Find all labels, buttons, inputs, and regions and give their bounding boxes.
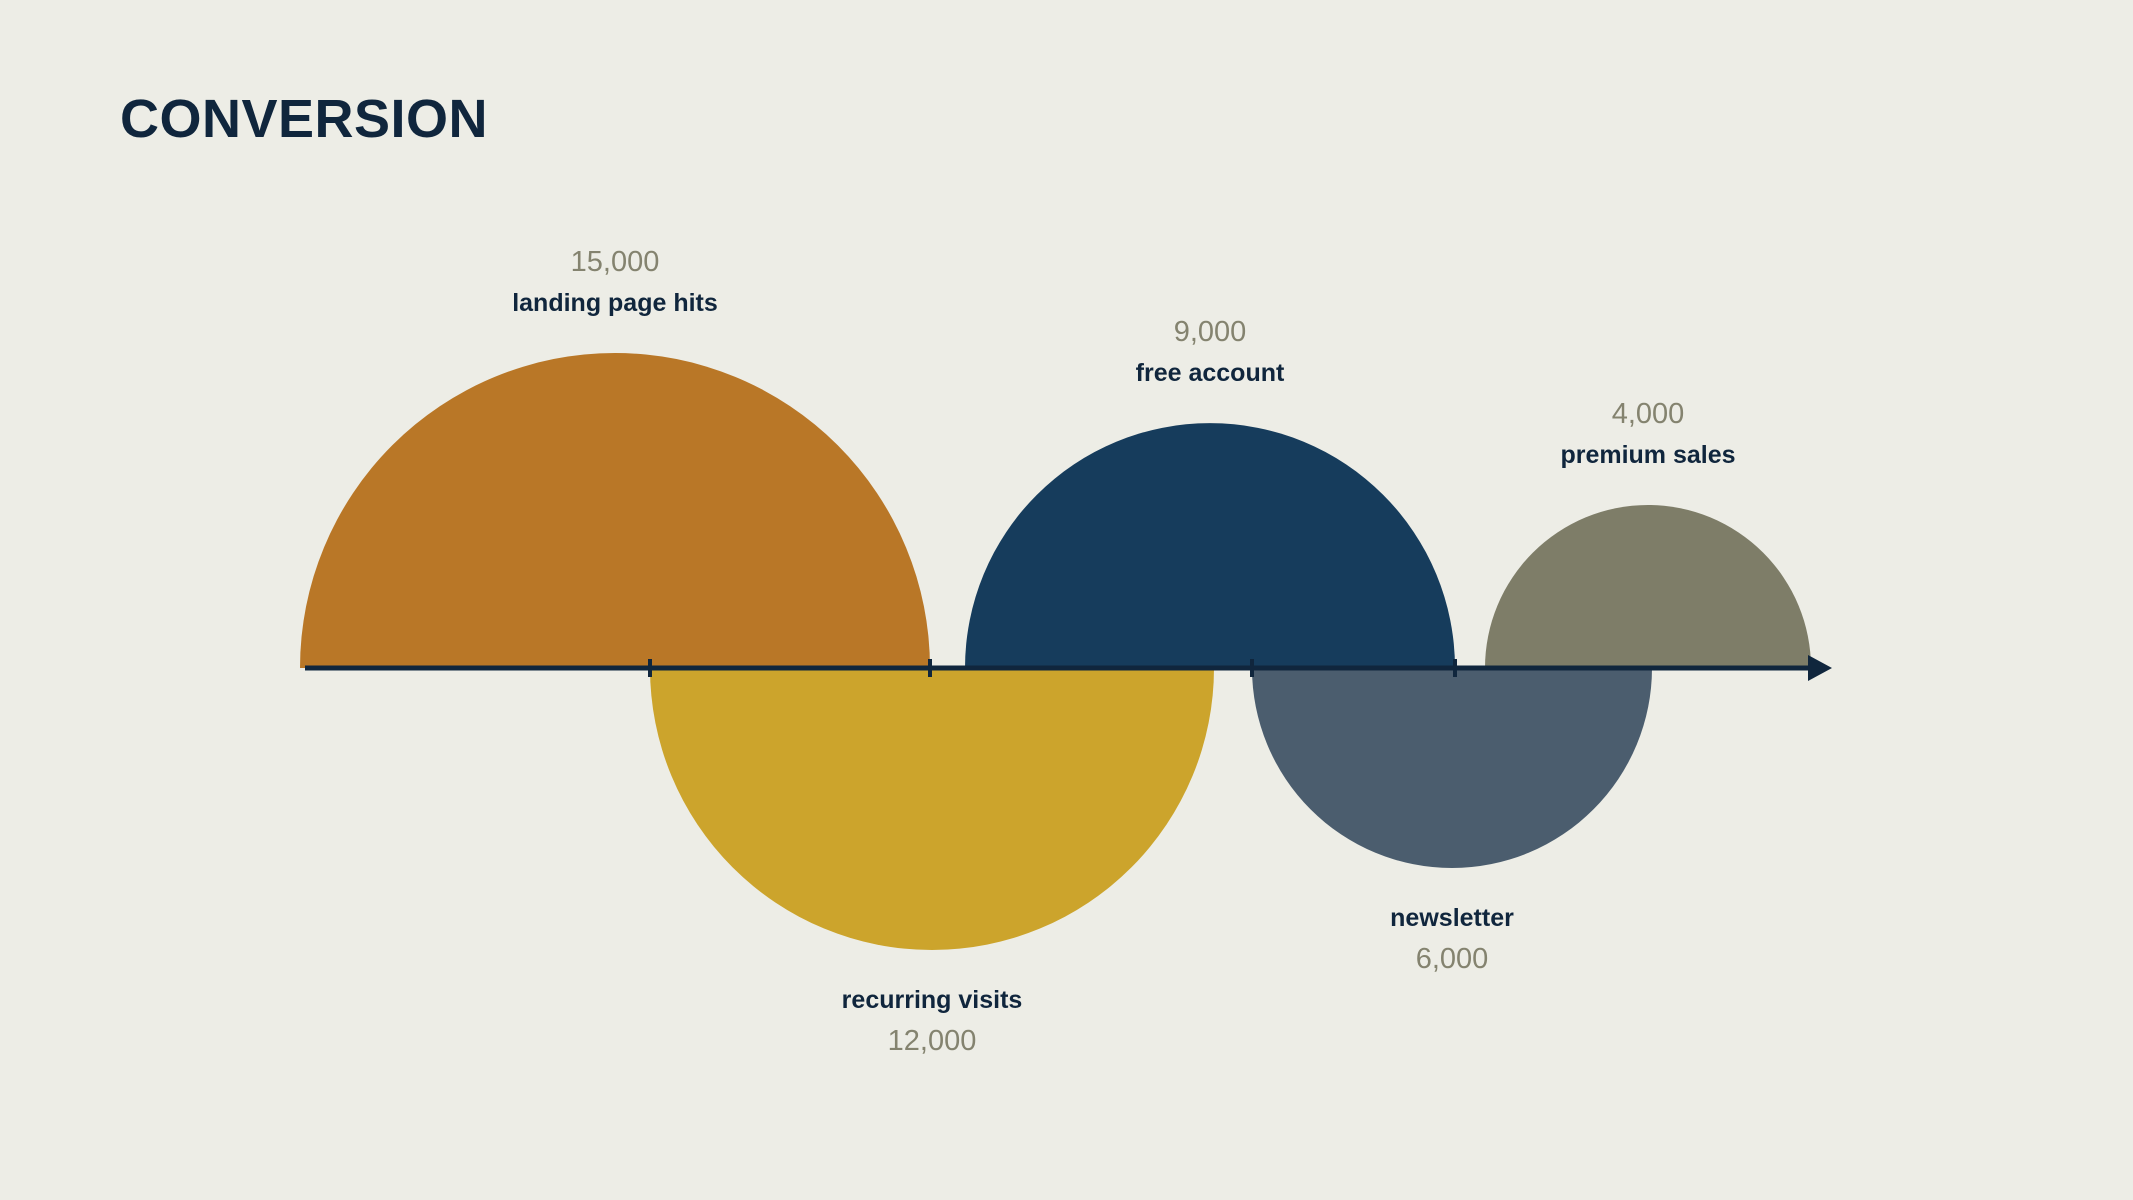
semicircle-free-account[interactable]	[965, 423, 1455, 668]
semicircle-recurring-visits[interactable]	[650, 668, 1214, 950]
semicircle-newsletter[interactable]	[1252, 668, 1652, 868]
category-text: free account	[1136, 361, 1285, 386]
data-label-free-account: 9,000free account	[1136, 318, 1285, 386]
value-text: 6,000	[1390, 945, 1514, 974]
category-text: landing page hits	[512, 291, 718, 316]
value-text: 12,000	[842, 1027, 1023, 1056]
semicircle-premium-sales[interactable]	[1485, 505, 1811, 668]
category-text: recurring visits	[842, 988, 1023, 1013]
data-label-premium-sales: 4,000premium sales	[1560, 400, 1735, 468]
data-label-recurring-visits: recurring visits12,000	[842, 988, 1023, 1056]
data-label-landing-page-hits: 15,000landing page hits	[512, 248, 718, 316]
value-text: 4,000	[1560, 400, 1735, 429]
category-text: newsletter	[1390, 906, 1514, 931]
chart-canvas: CONVERSION 15,000landing page hitsrecurr…	[0, 0, 2133, 1200]
value-text: 9,000	[1136, 318, 1285, 347]
conversion-semicircle-chart	[0, 0, 2133, 1200]
value-text: 15,000	[512, 248, 718, 277]
category-text: premium sales	[1560, 443, 1735, 468]
semicircle-landing-page-hits[interactable]	[300, 353, 930, 668]
data-label-newsletter: newsletter6,000	[1390, 906, 1514, 974]
